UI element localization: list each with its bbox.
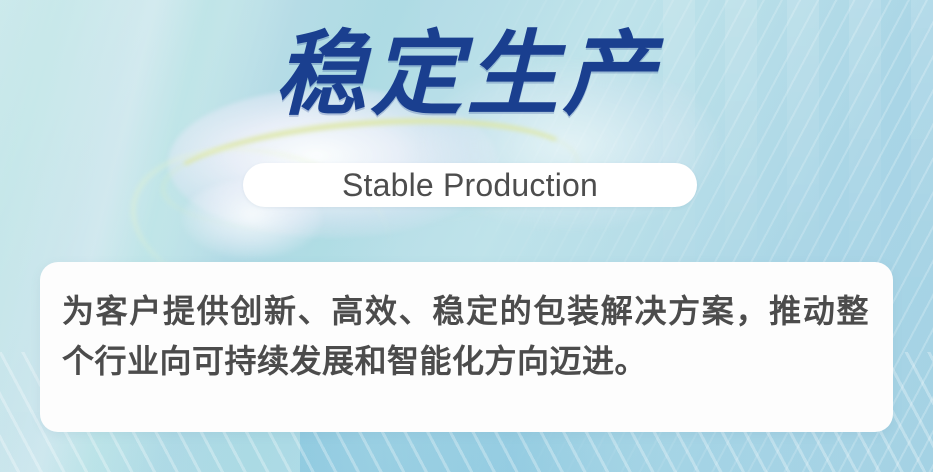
stable-production-banner: 稳定生产 Stable Production 为客户提供创新、高效、稳定的包装解… xyxy=(0,0,933,472)
subtitle-pill: Stable Production xyxy=(243,163,697,207)
description-card: 为客户提供创新、高效、稳定的包装解决方案，推动整个行业向可持续发展和智能化方向迈… xyxy=(40,262,893,432)
page-title: 稳定生产 xyxy=(0,22,933,128)
description-text: 为客户提供创新、高效、稳定的包装解决方案，推动整个行业向可持续发展和智能化方向迈… xyxy=(62,286,869,386)
subtitle-text: Stable Production xyxy=(342,168,598,202)
